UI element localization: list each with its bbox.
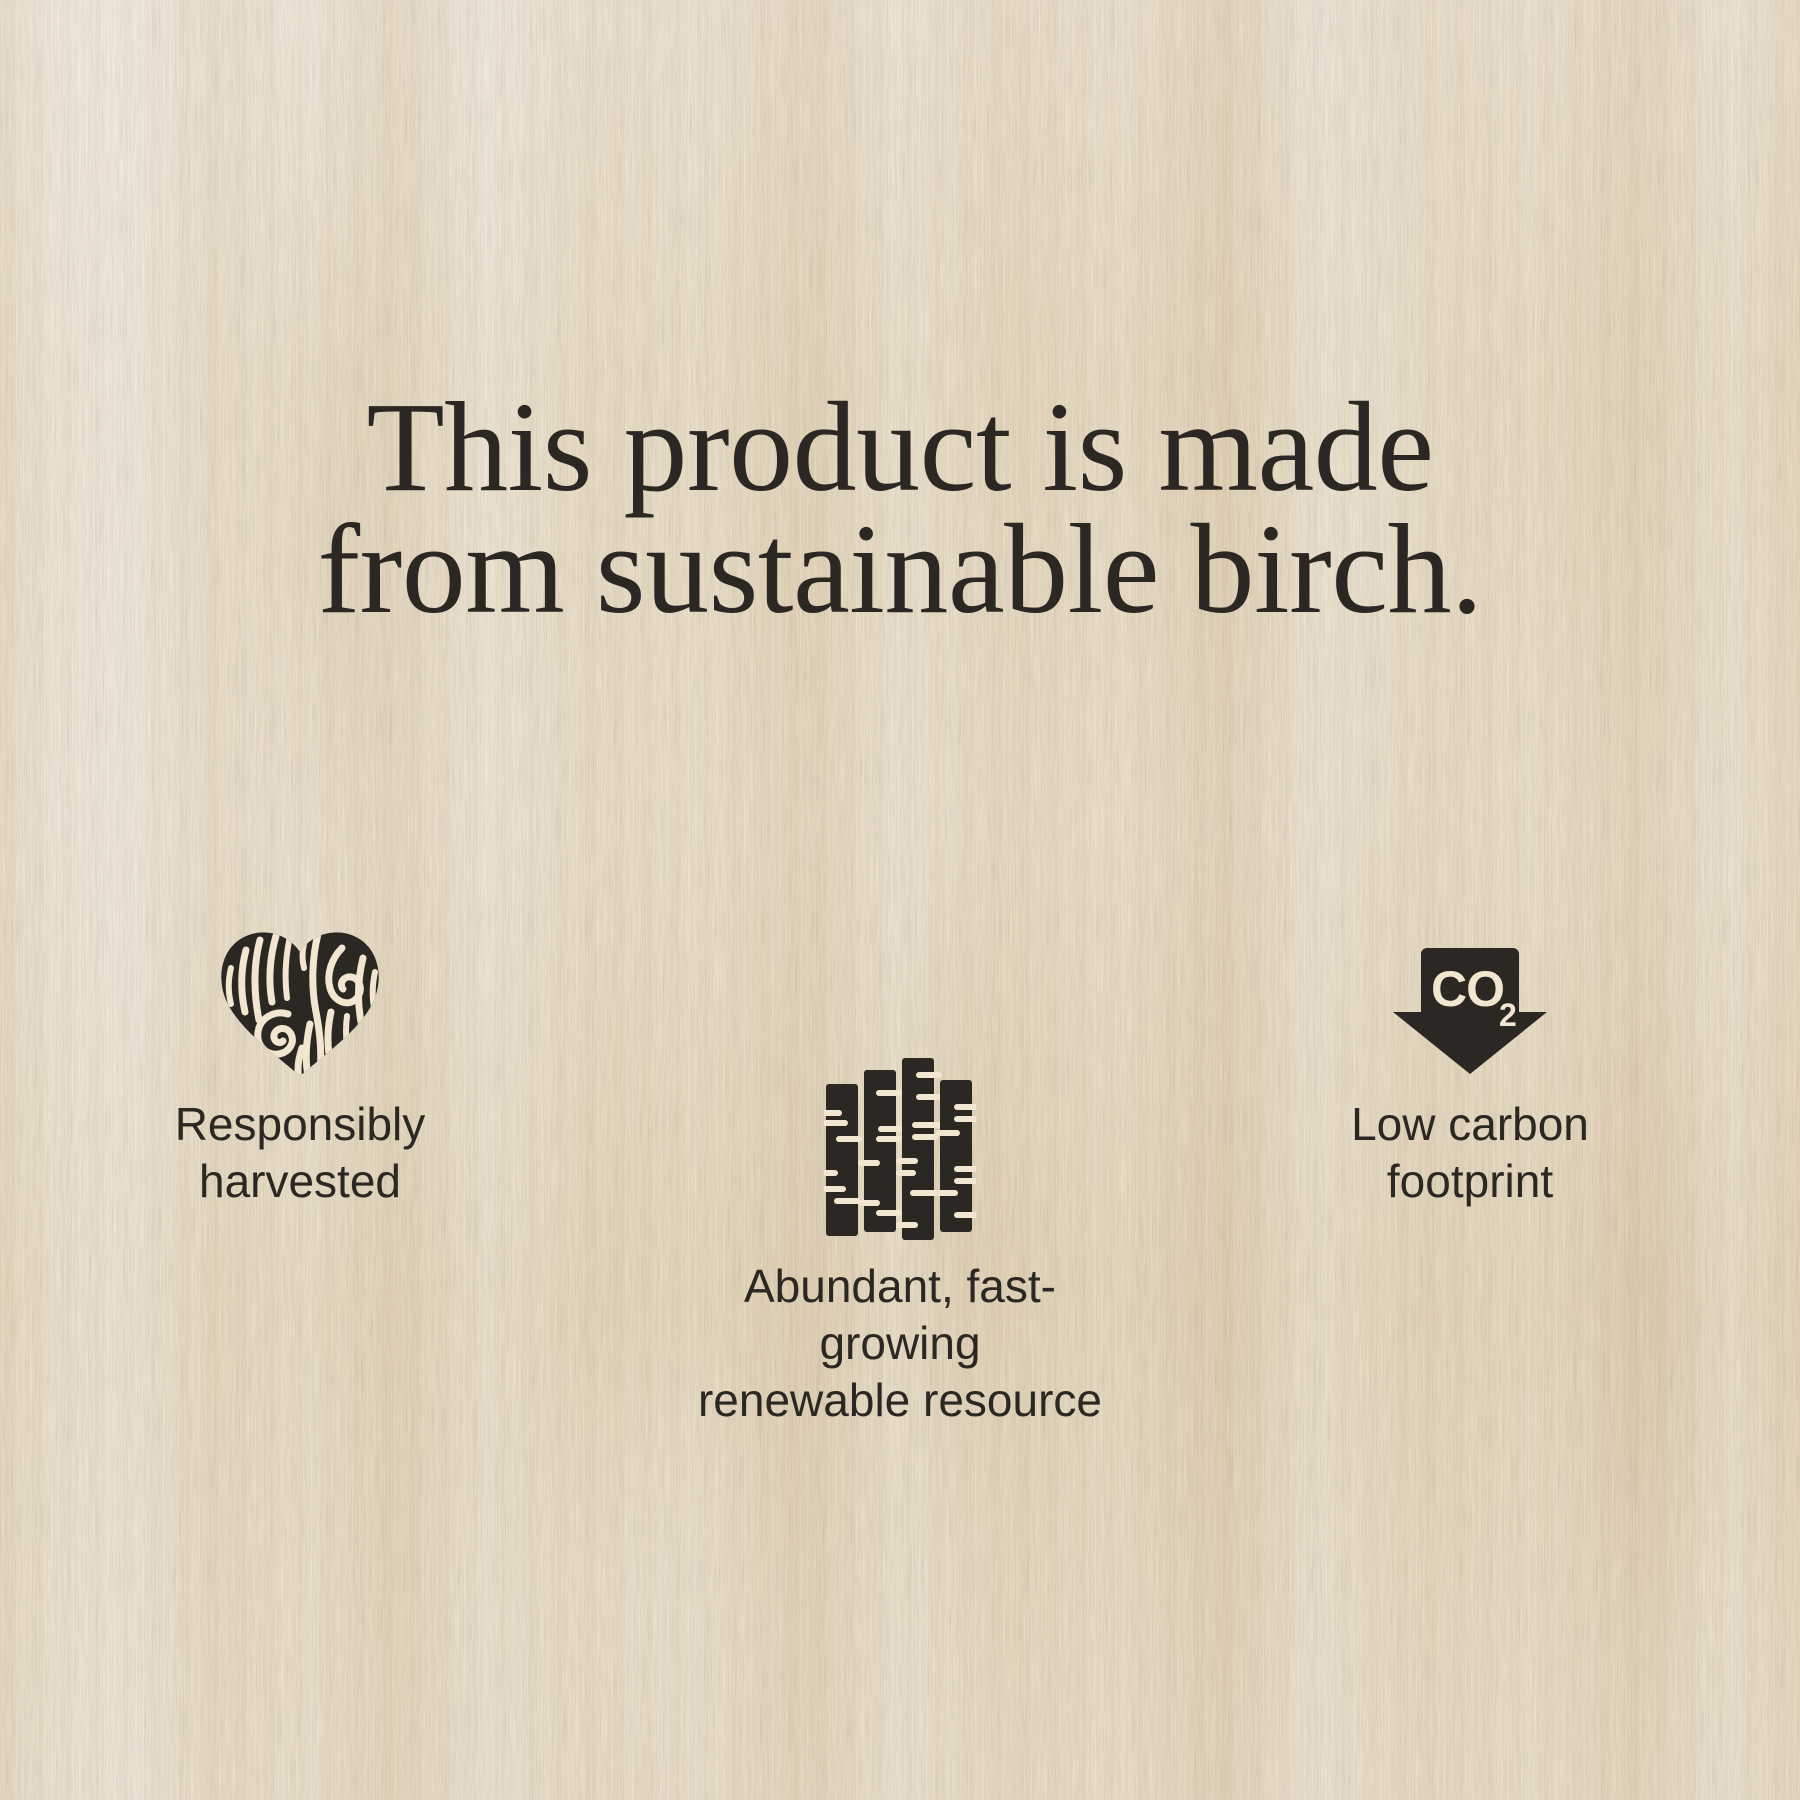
headline: This product is made from sustainable bi… — [0, 386, 1800, 630]
feature-caption: Responsibly harvested — [80, 1096, 520, 1210]
birch-sustainability-panel: This product is made from sustainable bi… — [0, 0, 1800, 1800]
co2-down-arrow-icon: CO 2 — [1387, 944, 1553, 1078]
icon-container — [80, 928, 520, 1078]
feature-renewable-resource: Abundant, fast-growing renewable resourc… — [680, 1050, 1120, 1429]
birch-trees-icon — [824, 1058, 976, 1240]
feature-low-carbon-footprint: CO 2 Low carbon footprint — [1250, 930, 1690, 1210]
feature-caption: Abundant, fast-growing renewable resourc… — [680, 1258, 1120, 1429]
wood-noise-overlay — [0, 0, 1800, 1800]
wood-grain-heart-icon — [214, 928, 386, 1078]
icon-container: CO 2 — [1250, 930, 1690, 1078]
co2-label: CO — [1431, 961, 1504, 1017]
feature-responsibly-harvested: Responsibly harvested — [80, 928, 520, 1210]
feature-caption: Low carbon footprint — [1250, 1096, 1690, 1210]
icon-container — [680, 1050, 1120, 1240]
co2-subscript: 2 — [1499, 997, 1517, 1033]
